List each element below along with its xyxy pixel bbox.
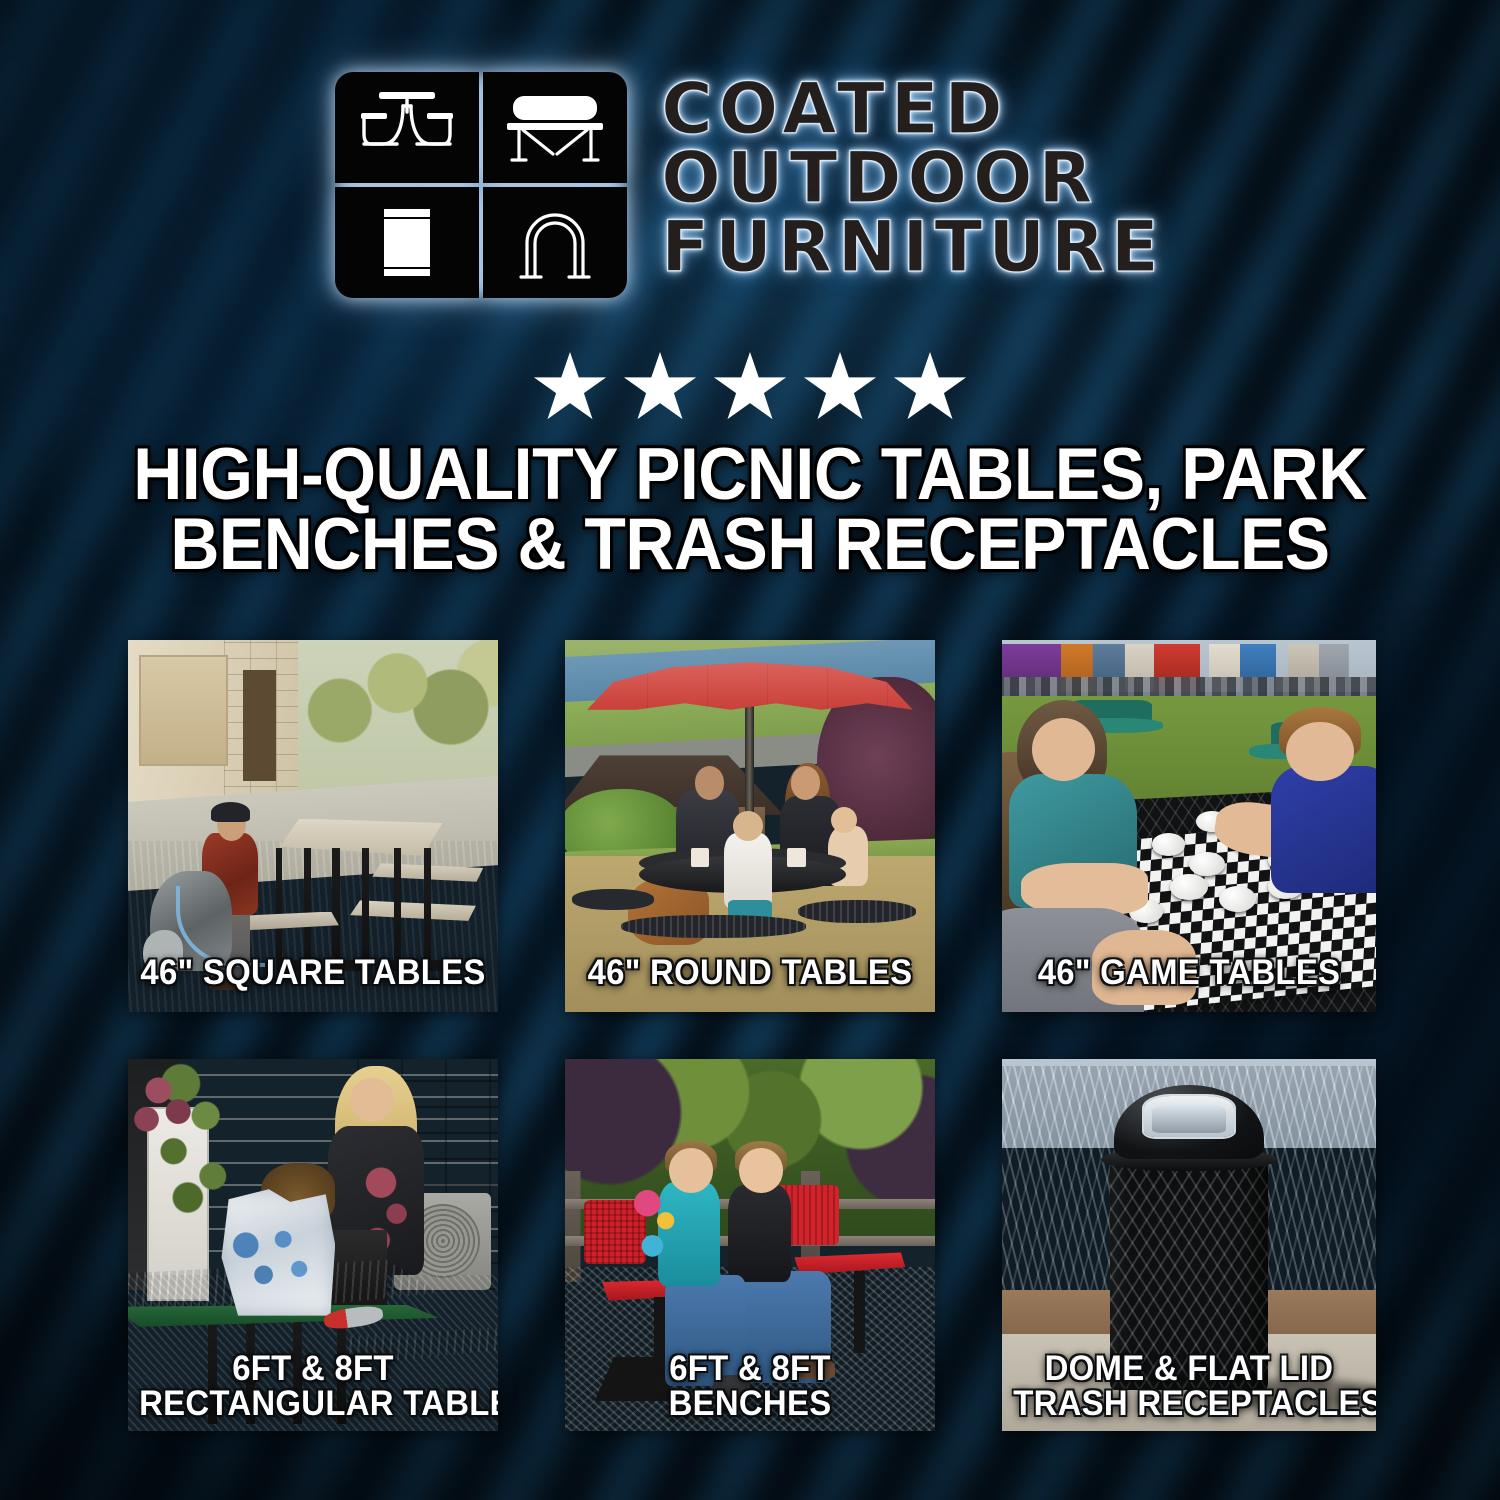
product-tile-label: 46" ROUND TABLES	[576, 955, 924, 990]
star-icon-4	[803, 352, 877, 424]
product-tile-rectangular-tables[interactable]: 6FT & 8FT RECTANGULAR TABLES	[128, 1059, 498, 1431]
headline-line-2: BENCHES & TRASH RECEPTACLES	[108, 510, 1391, 580]
product-tile-label: 46" GAME TABLES	[1013, 955, 1365, 990]
promo-page: COATED OUTDOOR FURNITURE HIGH-QUALITY PI…	[0, 0, 1500, 1500]
page-title: HIGH-QUALITY PICNIC TABLES, PARK BENCHES…	[108, 440, 1391, 580]
product-label-line-2: TRASH RECEPTACLES	[1013, 1386, 1365, 1421]
brand-wordmark: COATED OUTDOOR FURNITURE	[661, 72, 1165, 282]
star-icon-3	[713, 352, 787, 424]
product-tile-round-tables[interactable]: 46" ROUND TABLES	[565, 640, 935, 1012]
five-star-rating	[0, 352, 1500, 424]
product-label-line-2: RECTANGULAR TABLES	[139, 1386, 487, 1421]
star-icon-2	[623, 352, 697, 424]
logo-icon-grid	[335, 72, 627, 298]
product-tile-label: 6FT & 8FT RECTANGULAR TABLES	[139, 1351, 487, 1421]
product-tile-label: DOME & FLAT LID TRASH RECEPTACLES	[1013, 1351, 1365, 1421]
product-label-line-1: 46" GAME TABLES	[1013, 955, 1365, 990]
product-label-line-1: 6FT & 8FT	[576, 1351, 924, 1386]
product-tile-grid: 46" SQUARE TABLES	[128, 640, 1376, 1431]
bike-rack-icon	[483, 187, 627, 298]
product-label-line-1: 46" SQUARE TABLES	[139, 955, 487, 990]
brand-word-outdoor: OUTDOOR	[661, 145, 1165, 212]
product-tile-game-tables[interactable]: 46" GAME TABLES	[1002, 640, 1376, 1012]
star-icon-1	[533, 352, 607, 424]
product-label-line-1: 46" ROUND TABLES	[576, 955, 924, 990]
product-label-line-1: DOME & FLAT LID	[1013, 1351, 1365, 1386]
headline-line-1: HIGH-QUALITY PICNIC TABLES, PARK	[108, 440, 1391, 510]
park-bench-icon	[483, 72, 627, 183]
product-tile-label: 6FT & 8FT BENCHES	[576, 1351, 924, 1421]
brand-logo: COATED OUTDOOR FURNITURE	[0, 72, 1500, 298]
product-tile-trash-receptacles[interactable]: DOME & FLAT LID TRASH RECEPTACLES	[1002, 1059, 1376, 1431]
product-label-line-2: BENCHES	[576, 1386, 924, 1421]
brand-word-coated: COATED	[661, 76, 1165, 143]
product-tile-square-tables[interactable]: 46" SQUARE TABLES	[128, 640, 498, 1012]
product-tile-label: 46" SQUARE TABLES	[139, 955, 487, 990]
product-label-line-1: 6FT & 8FT	[139, 1351, 487, 1386]
trash-receptacle-icon	[335, 187, 479, 298]
picnic-table-icon	[335, 72, 479, 183]
product-tile-benches[interactable]: 6FT & 8FT BENCHES	[565, 1059, 935, 1431]
brand-word-furniture: FURNITURE	[661, 214, 1165, 281]
star-icon-5	[893, 352, 967, 424]
